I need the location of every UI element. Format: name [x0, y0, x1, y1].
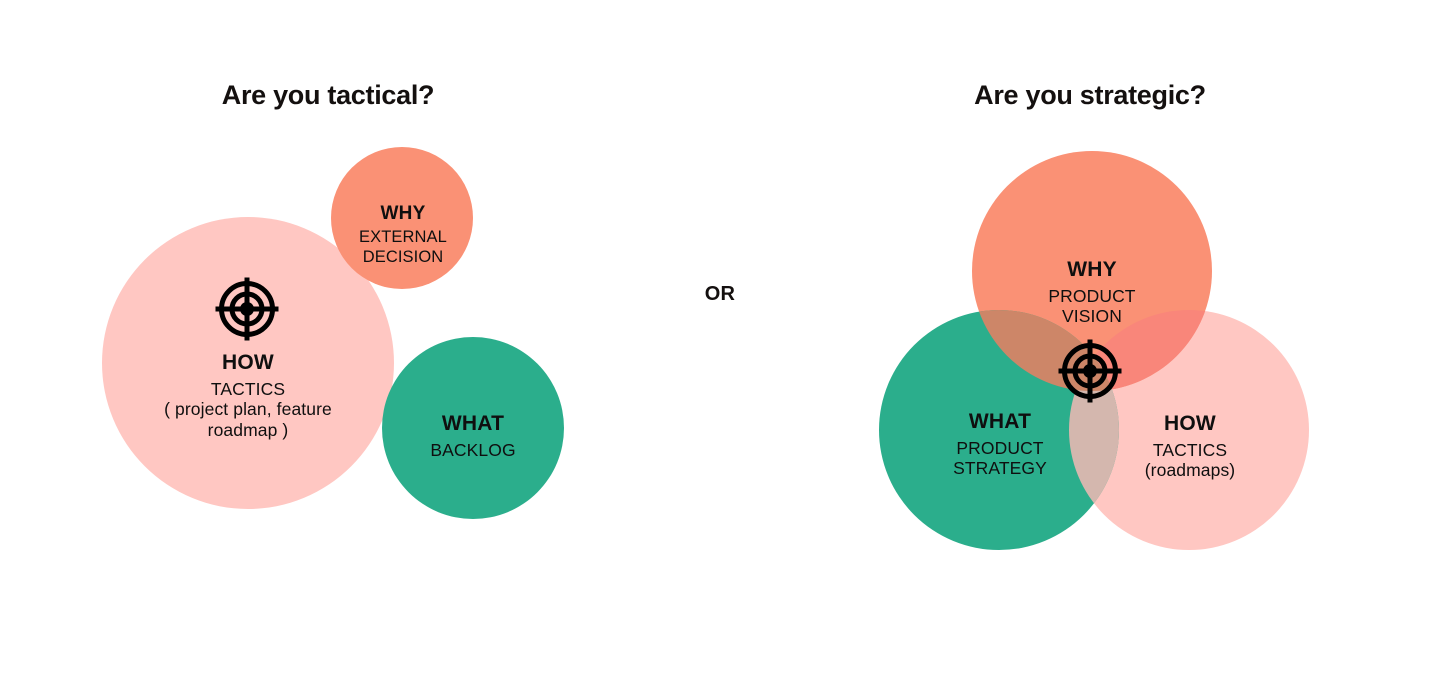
panel-title-tactical: Are you tactical? — [128, 80, 528, 111]
panel-tactical-circles — [102, 147, 564, 519]
panel-strategic-circles — [879, 151, 1309, 550]
circle-why-tactical[interactable] — [331, 147, 473, 289]
or-connector-label: OR — [660, 283, 780, 306]
circle-what-tactical[interactable] — [382, 337, 564, 519]
panel-title-strategic: Are you strategic? — [890, 80, 1290, 111]
